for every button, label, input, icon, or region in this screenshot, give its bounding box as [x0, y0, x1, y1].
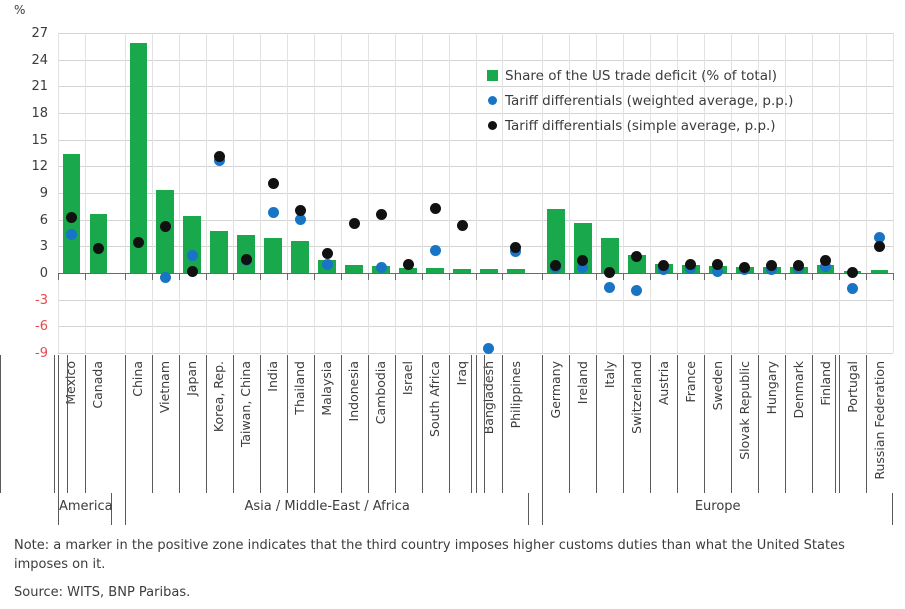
category-label-text: Vietnam: [159, 361, 171, 413]
category-separator: [287, 355, 288, 493]
category-label-text: Israel: [402, 361, 414, 395]
category-label-philippines: Philippines: [502, 355, 529, 493]
weighted-avg-dot: [322, 259, 333, 270]
vertical-gridline: [287, 33, 288, 353]
legend-item-label: Share of the US trade deficit (% of tota…: [505, 68, 777, 84]
category-label-text: Korea, Rep.: [213, 361, 225, 432]
category-label-japan: Japan: [179, 355, 206, 493]
weighted-avg-dot: [160, 272, 171, 283]
vertical-gridline: [314, 33, 315, 353]
simple-avg-dot: [685, 259, 696, 270]
category-separator: [395, 355, 396, 493]
group-label-text: Europe: [543, 499, 892, 514]
category-separator: [785, 355, 786, 493]
y-tick-label: 18: [0, 107, 48, 120]
category-label-text: Austria: [658, 361, 670, 405]
category-label-text: China: [132, 361, 144, 397]
bar-india: [264, 238, 282, 273]
category-label-text: Malaysia: [321, 361, 333, 416]
category-separator: [85, 355, 86, 493]
group-boundary: [835, 355, 836, 493]
simple-avg-dot: [268, 178, 279, 189]
simple-avg-dot: [631, 251, 642, 262]
group-labels: AmericaAsia / Middle-East / AfricaEurope: [58, 493, 893, 525]
category-label-austria: Austria: [650, 355, 677, 493]
legend-item-1[interactable]: Tariff differentials (weighted average, …: [487, 88, 887, 113]
category-label-malaysia: Malaysia: [314, 355, 341, 493]
vertical-gridline: [206, 33, 207, 353]
category-label-text: Japan: [186, 361, 198, 396]
category-label-text: Philippines: [510, 361, 522, 428]
legend-square-icon: [487, 70, 498, 81]
group-boundary: [484, 355, 485, 493]
chart-note: Note: a marker in the positive zone indi…: [14, 536, 894, 574]
category-label-text: Hungary: [766, 361, 778, 414]
simple-avg-dot: [430, 203, 441, 214]
category-label-text: Ireland: [577, 361, 589, 404]
simple-avg-dot: [322, 248, 333, 259]
vertical-gridline: [368, 33, 369, 353]
bar-korea-rep-: [210, 231, 228, 273]
simple-avg-dot: [604, 267, 615, 278]
weighted-avg-dot: [376, 262, 387, 273]
group-europe: Europe: [542, 493, 893, 525]
category-label-israel: Israel: [395, 355, 422, 493]
legend-item-label: Tariff differentials (simple average, p.…: [505, 118, 776, 134]
category-separator: [206, 355, 207, 493]
vertical-gridline: [85, 33, 86, 353]
category-label-text: Canada: [92, 361, 104, 409]
simple-avg-dot: [93, 243, 104, 254]
category-separator: [341, 355, 342, 493]
category-label-sweden: Sweden: [704, 355, 731, 493]
group-america: America: [58, 493, 112, 525]
simple-avg-dot: [457, 220, 468, 231]
y-tick-label: 0: [0, 267, 48, 280]
weighted-avg-dot: [430, 245, 441, 256]
category-label-ireland: Ireland: [569, 355, 596, 493]
weighted-avg-dot: [847, 283, 858, 294]
category-separator: [152, 355, 153, 493]
category-label-text: Iraq: [456, 361, 468, 385]
category-separator: [314, 355, 315, 493]
category-label-korea-rep-: Korea, Rep.: [206, 355, 233, 493]
category-separator: [542, 355, 543, 493]
simple-avg-dot: [214, 151, 225, 162]
weighted-avg-dot: [187, 250, 198, 261]
y-tick-label: 24: [0, 54, 48, 67]
legend-item-0[interactable]: Share of the US trade deficit (% of tota…: [487, 63, 887, 88]
vertical-gridline: [58, 33, 59, 353]
category-label-thailand: Thailand: [287, 355, 314, 493]
vertical-gridline: [476, 33, 477, 353]
y-tick-label: -9: [0, 347, 48, 360]
y-tick-label: -3: [0, 294, 48, 307]
y-axis-unit-label: %: [14, 3, 25, 17]
category-label-canada: Canada: [85, 355, 112, 493]
legend-item-2[interactable]: Tariff differentials (simple average, p.…: [487, 113, 887, 138]
category-label-text: Cambodia: [375, 361, 387, 424]
category-label-text: Slovak Republic: [739, 361, 751, 460]
simple-avg-dot: [376, 209, 387, 220]
category-separator: [758, 355, 759, 493]
category-separator: [731, 355, 732, 493]
category-label-text: India: [267, 361, 279, 392]
category-label-russian-federation: Russian Federation: [866, 355, 893, 493]
category-separator: [179, 355, 180, 493]
y-tick-label: 9: [0, 187, 48, 200]
group-boundary: [67, 355, 68, 493]
vertical-gridline: [341, 33, 342, 353]
category-label-italy: Italy: [596, 355, 623, 493]
category-separator: [866, 355, 867, 493]
simple-avg-dot: [793, 260, 804, 271]
category-label-text: Thailand: [294, 361, 306, 415]
category-label-mexico: Mexico: [58, 355, 85, 493]
simple-avg-dot: [550, 260, 561, 271]
category-label-south-africa: South Africa: [422, 355, 449, 493]
category-label-france: France: [677, 355, 704, 493]
vertical-gridline: [395, 33, 396, 353]
group-boundary: [471, 355, 472, 493]
category-separator: [569, 355, 570, 493]
vertical-gridline: [125, 33, 126, 353]
group-asia-middle-east-africa: Asia / Middle-East / Africa: [125, 493, 530, 525]
category-label-text: South Africa: [429, 361, 441, 437]
simple-avg-dot: [295, 205, 306, 216]
y-tick-label: 6: [0, 214, 48, 227]
category-label-indonesia: Indonesia: [341, 355, 368, 493]
category-separator: [58, 355, 59, 493]
category-separator: [502, 355, 503, 493]
category-separator: [839, 355, 840, 493]
legend-dot-icon: [488, 96, 497, 105]
category-label-text: Italy: [604, 361, 616, 388]
legend-item-label: Tariff differentials (weighted average, …: [505, 93, 793, 109]
y-tick-label: 27: [0, 27, 48, 40]
vertical-gridline: [449, 33, 450, 353]
category-separator: [422, 355, 423, 493]
category-separator: [449, 355, 450, 493]
y-tick-label: 3: [0, 240, 48, 253]
category-label-text: Taiwan, China: [240, 361, 252, 447]
category-separator: [368, 355, 369, 493]
bar-indonesia: [345, 265, 363, 273]
chart-root: % Share of the US trade deficit (% of to…: [0, 0, 905, 609]
group-label-text: America: [59, 499, 111, 514]
category-label-cambodia: Cambodia: [368, 355, 395, 493]
category-label-text: Denmark: [793, 361, 805, 418]
category-label-text: Switzerland: [631, 361, 643, 434]
category-separator: [233, 355, 234, 493]
category-separator: [650, 355, 651, 493]
simple-avg-dot: [847, 267, 858, 278]
simple-avg-dot: [874, 241, 885, 252]
category-label-text: Indonesia: [348, 361, 360, 421]
category-label-denmark: Denmark: [785, 355, 812, 493]
category-labels: MexicoCanadaChinaVietnamJapanKorea, Rep.…: [58, 355, 893, 493]
group-label-text: Asia / Middle-East / Africa: [126, 499, 529, 514]
chart-legend: Share of the US trade deficit (% of tota…: [487, 63, 887, 138]
gridline--9: [58, 353, 893, 354]
y-tick-label: 21: [0, 80, 48, 93]
category-separator: [260, 355, 261, 493]
simple-avg-dot: [658, 260, 669, 271]
category-label-china: China: [125, 355, 152, 493]
vertical-gridline: [233, 33, 234, 353]
simple-avg-dot: [187, 266, 198, 277]
weighted-avg-dot: [631, 285, 642, 296]
category-label-taiwan-china: Taiwan, China: [233, 355, 260, 493]
category-label-vietnam: Vietnam: [152, 355, 179, 493]
legend-dot-icon: [488, 121, 497, 130]
category-label-bangladesh: Bangladesh: [476, 355, 503, 493]
category-label-text: France: [685, 361, 697, 403]
category-label-germany: Germany: [542, 355, 569, 493]
category-separator: [812, 355, 813, 493]
weighted-avg-dot: [268, 207, 279, 218]
bar-japan: [183, 216, 201, 273]
simple-avg-dot: [241, 254, 252, 265]
vertical-gridline: [422, 33, 423, 353]
category-separator: [476, 355, 477, 493]
y-tick-label: 12: [0, 160, 48, 173]
vertical-gridline: [179, 33, 180, 353]
category-label-switzerland: Switzerland: [623, 355, 650, 493]
category-label-text: Germany: [550, 361, 562, 418]
y-tick-label: -6: [0, 320, 48, 333]
category-label-portugal: Portugal: [839, 355, 866, 493]
category-label-slovak-republic: Slovak Republic: [731, 355, 758, 493]
group-boundary: [0, 355, 1, 493]
category-label-text: Portugal: [847, 361, 859, 413]
chart-footer: Note: a marker in the positive zone indi…: [14, 536, 894, 602]
category-separator: [596, 355, 597, 493]
vertical-gridline: [260, 33, 261, 353]
y-tick-label: 15: [0, 134, 48, 147]
group-boundary: [54, 355, 55, 493]
simple-avg-dot: [349, 218, 360, 229]
category-separator: [677, 355, 678, 493]
category-separator: [623, 355, 624, 493]
category-label-text: Finland: [820, 361, 832, 406]
category-separator: [704, 355, 705, 493]
vertical-gridline: [152, 33, 153, 353]
weighted-avg-dot: [604, 282, 615, 293]
chart-source: Source: WITS, BNP Paribas.: [14, 583, 894, 602]
category-label-text: Russian Federation: [874, 361, 886, 480]
category-separator: [125, 355, 126, 493]
category-label-india: India: [260, 355, 287, 493]
simple-avg-dot: [712, 259, 723, 270]
bar-thailand: [291, 241, 309, 273]
simple-avg-dot: [403, 259, 414, 270]
vertical-gridline: [893, 33, 894, 353]
category-label-hungary: Hungary: [758, 355, 785, 493]
category-label-text: Sweden: [712, 361, 724, 410]
